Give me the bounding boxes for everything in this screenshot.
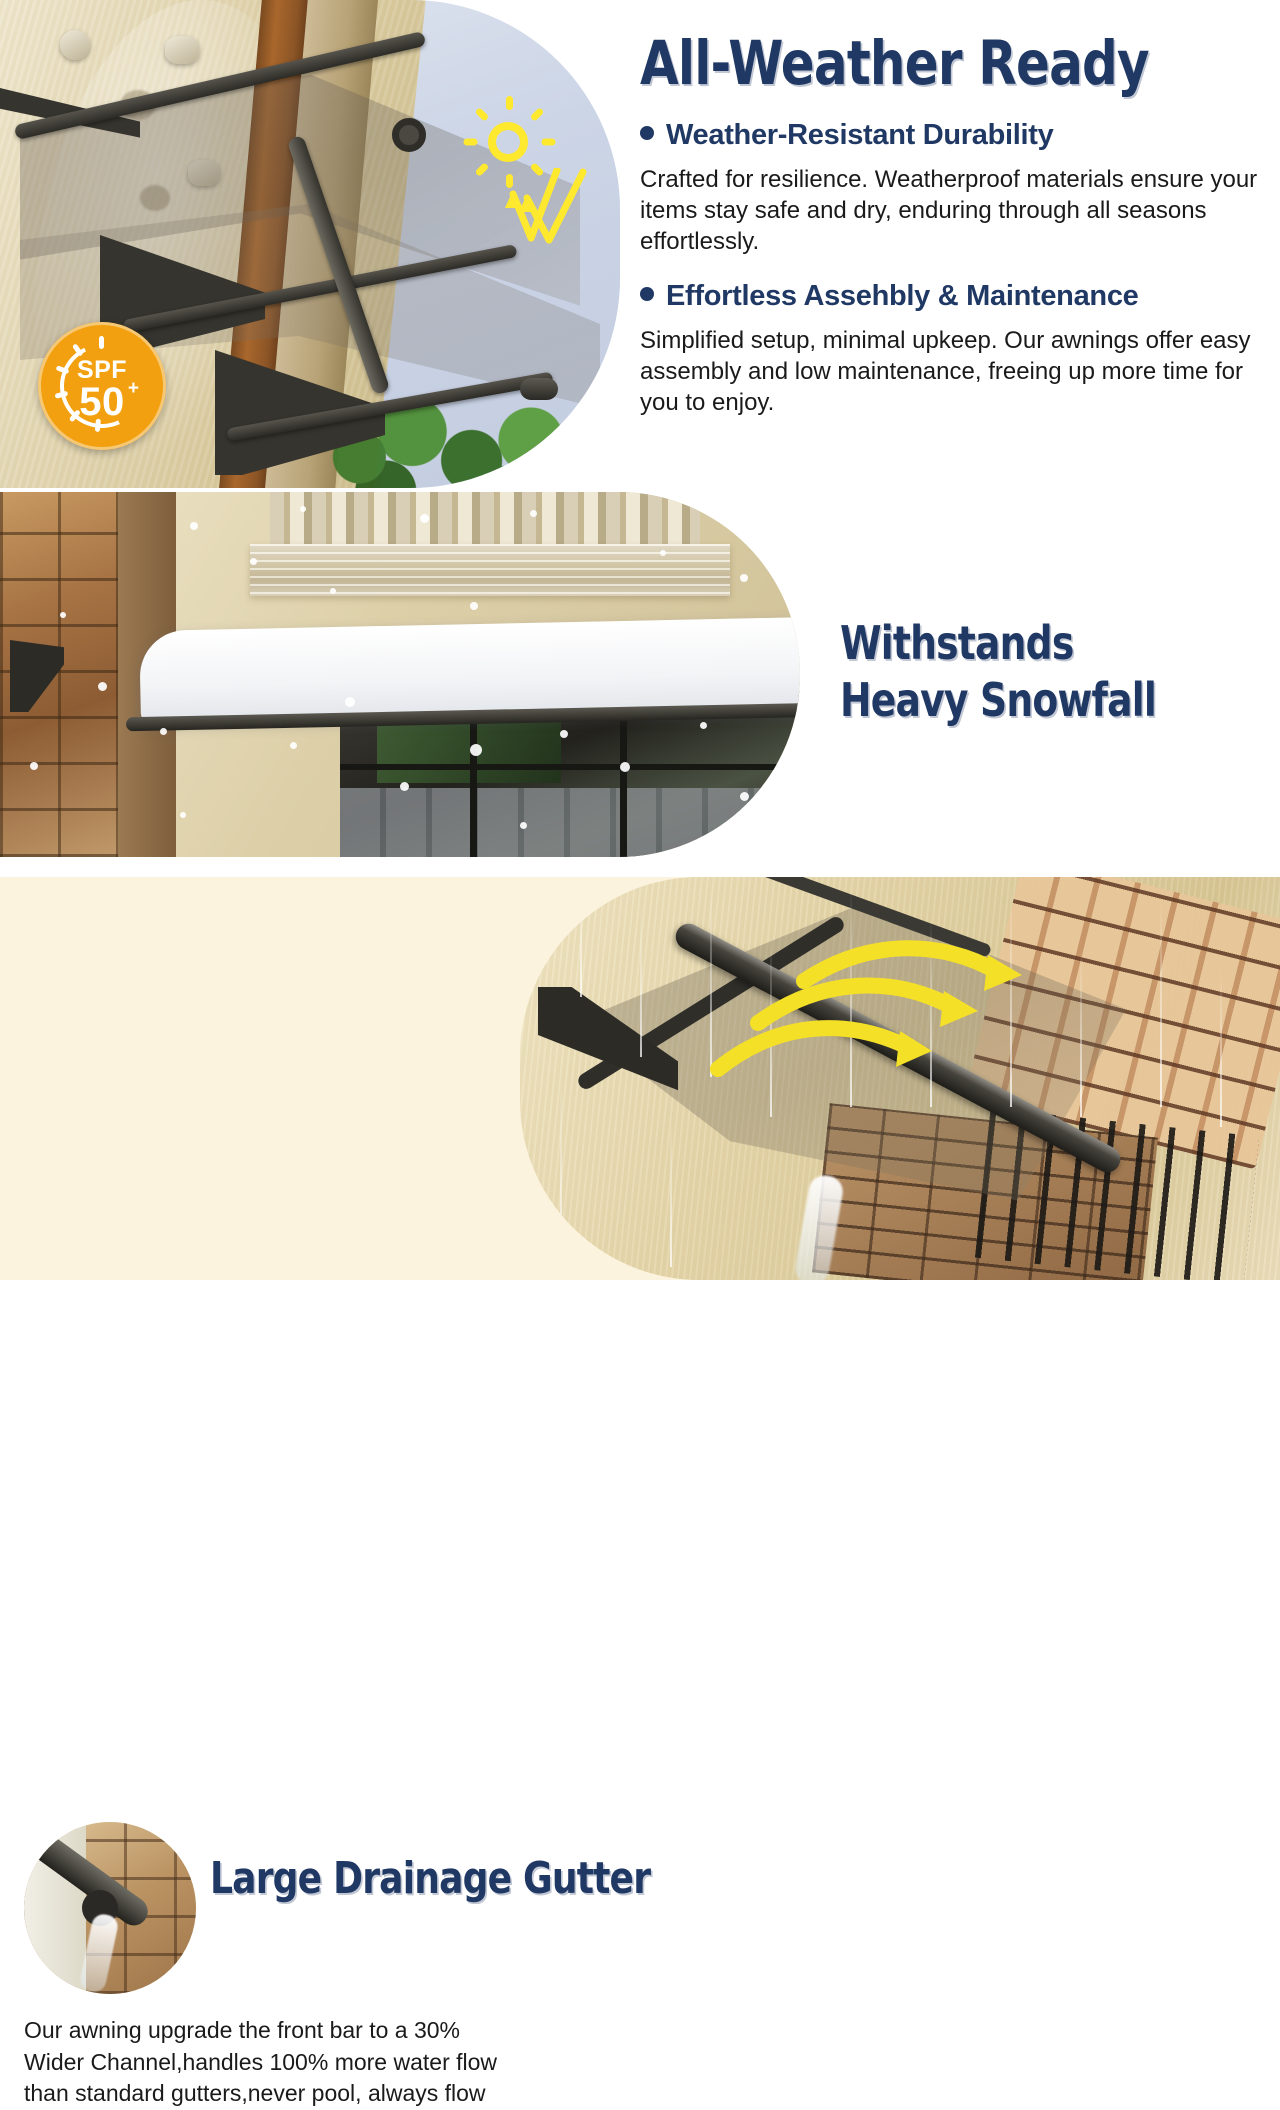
sun-core [488,122,528,162]
feature-1-heading-row: Weather-Resistant Durability [640,119,1258,152]
balustrade [270,492,700,550]
snowfall-headline: Withstands Heavy Snowfall [840,615,1201,729]
panel1-text-column: All-Weather Ready Weather-Resistant Dura… [640,30,1258,418]
feature-1-body: Crafted for resilience. Weatherproof mat… [640,164,1258,258]
gutter-headline: Large Drainage Gutter [210,1852,650,1906]
snow-covered-awning-photo [0,492,800,857]
page-title: All-Weather Ready [640,30,1147,97]
panel2-text-column: Withstands Heavy Snowfall [840,615,1280,729]
bullet-dot-icon [640,126,654,140]
rod-end-cap [520,378,558,400]
spf-value: 50 [38,380,166,425]
panel3-title-block: Large Drainage Gutter [210,1852,747,1906]
spf-50-badge: SPF 50 + [38,322,166,450]
spf-plus: + [128,378,139,400]
bullet-dot-icon [640,287,654,301]
gutter-body-text: Our awning upgrade the front bar to a 30… [24,2015,524,2110]
stone-ledge [250,544,730,596]
feature-2-body: Simplified setup, minimal upkeep. Our aw… [640,325,1258,419]
rod-end-knob [392,118,426,152]
gutter-water-flow-closeup [24,1822,196,1994]
wall-fixture [165,36,199,64]
rain-drainage-awning-photo [520,877,1280,1280]
feature-2-heading: Effortless Assehbly & Maintenance [666,280,1139,313]
awning-product-photo: SPF 50 + [0,0,620,488]
water-flow-arrows-icon [700,927,1120,1177]
feature-2-heading-row: Effortless Assehbly & Maintenance [640,280,1258,313]
wall-fixture [60,30,90,60]
panel-all-weather-ready: SPF 50 + All-Weather Ready Weather-Resis… [0,0,1280,488]
panel-drainage-gutter: Large Drainage Gutter Our awning upgrade… [0,877,1280,1280]
feature-1-heading: Weather-Resistant Durability [666,119,1054,152]
uv-reflect-arrows-icon [487,168,597,244]
